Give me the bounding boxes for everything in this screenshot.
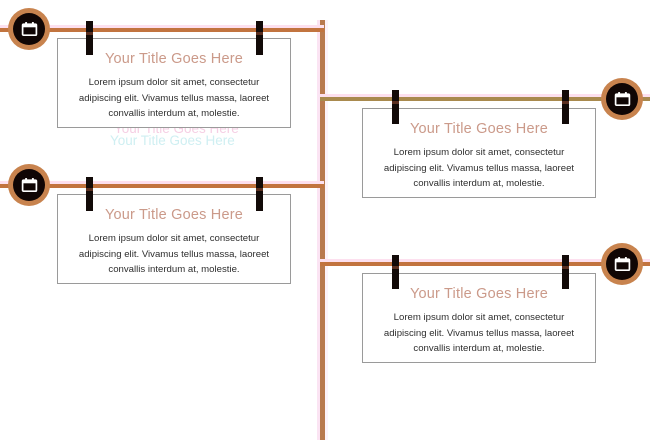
card-body: Lorem ipsum dolor sit amet, consectetur … [68, 75, 280, 122]
calendar-icon [614, 91, 631, 107]
card-body: Lorem ipsum dolor sit amet, consectetur … [68, 231, 280, 278]
calendar-badge-middle-left[interactable] [8, 164, 50, 206]
clothespin-clip [562, 255, 569, 289]
calendar-icon [21, 177, 38, 193]
badge-inner [606, 248, 638, 280]
ghost-text-2: Your Title Goes Here [110, 133, 235, 148]
card-title: Your Title Goes Here [68, 207, 280, 224]
card-title: Your Title Goes Here [373, 121, 585, 138]
calendar-badge-bottom-right[interactable] [601, 243, 643, 285]
card-body: Lorem ipsum dolor sit amet, consectetur … [373, 310, 585, 357]
clothespin-clip [256, 177, 263, 211]
card-title: Your Title Goes Here [68, 51, 280, 68]
calendar-icon [614, 256, 631, 272]
clothespin-clip [256, 21, 263, 55]
badge-inner [13, 169, 45, 201]
clothespin-clip [86, 177, 93, 211]
clothespin-clip [392, 90, 399, 124]
card-title: Your Title Goes Here [373, 286, 585, 303]
badge-inner [606, 83, 638, 115]
timeline-spine [320, 20, 325, 440]
calendar-icon [21, 21, 38, 37]
card-body: Lorem ipsum dolor sit amet, consectetur … [373, 145, 585, 192]
clothespin-clip [86, 21, 93, 55]
clothespin-clip [562, 90, 569, 124]
timeline-infographic: Your Title Goes Here Your Title Goes Her… [0, 0, 650, 440]
clothespin-clip [392, 255, 399, 289]
calendar-badge-top-left[interactable] [8, 8, 50, 50]
calendar-badge-top-right[interactable] [601, 78, 643, 120]
badge-inner [13, 13, 45, 45]
